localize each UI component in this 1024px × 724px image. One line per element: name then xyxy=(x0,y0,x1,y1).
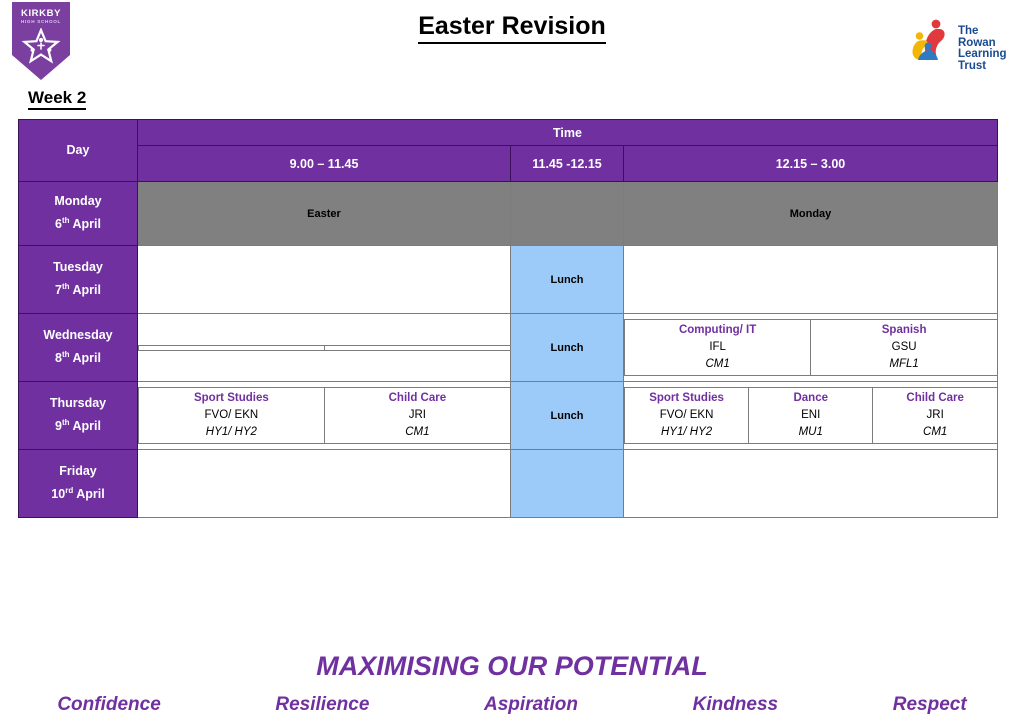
split-session-table: Computing/ ITIFLCM1SpanishGSUMFL1 xyxy=(624,319,997,375)
session-subject: Computing/ IT xyxy=(626,322,809,339)
table-row: Friday10rd April xyxy=(19,450,998,518)
date-ordinal: th xyxy=(62,350,70,359)
session-teacher: GSU xyxy=(812,339,996,356)
split-session-cell[interactable]: Child CareJRICM1 xyxy=(324,388,510,443)
table-row: Monday6th AprilEasterMonday xyxy=(19,182,998,246)
session-empty xyxy=(624,278,997,282)
session-subject: Sport Studies xyxy=(140,390,323,407)
split-session-table: Sport StudiesFVO/ EKNHY1/ HY2Child CareJ… xyxy=(138,387,510,443)
split-session-cell[interactable]: DanceENIMU1 xyxy=(749,388,873,443)
rowan-learning-trust-logo: The Rowan Learning Trust xyxy=(906,16,1018,68)
cell-morning-thursday[interactable]: Sport StudiesFVO/ EKNHY1/ HY2Child CareJ… xyxy=(138,382,511,450)
date-ordinal: rd xyxy=(65,486,73,495)
session: Sport StudiesFVO/ EKNHY1/ HY2 xyxy=(625,388,748,442)
session-empty xyxy=(138,278,510,282)
value-resilience: Resilience xyxy=(275,694,369,716)
school-motto: MAXIMISING OUR POTENTIAL xyxy=(0,651,1024,682)
table-row: Thursday9th AprilSport StudiesFVO/ EKNHY… xyxy=(19,382,998,450)
split-session-cell[interactable]: Sport StudiesFVO/ EKNHY1/ HY2 xyxy=(625,388,749,443)
cell-morning-friday[interactable] xyxy=(138,450,511,518)
session-teacher: IFL xyxy=(626,339,809,356)
day-cell-friday: Friday10rd April xyxy=(19,450,138,518)
day-date: 7th April xyxy=(19,279,137,303)
split-session-cell[interactable]: Sport StudiesFVO/ EKNHY1/ HY2 xyxy=(139,388,325,443)
session-subject: Dance xyxy=(750,390,871,407)
timetable-page: KIRKBY HIGH SCHOOL Easter Revision xyxy=(0,0,1024,724)
split-session-cell[interactable]: Computing/ ITIFLCM1 xyxy=(625,320,811,375)
trust-name: The Rowan Learning Trust xyxy=(958,26,1018,73)
cell-lunch-thursday[interactable]: Lunch xyxy=(511,382,624,450)
table-row: Tuesday7th AprilLunch xyxy=(19,246,998,314)
split-session-table: Sport StudiesFVO/ EKNHY1/ HY2DanceENIMU1… xyxy=(624,387,997,443)
session-empty xyxy=(139,346,324,350)
session-empty xyxy=(325,346,510,350)
cell-afternoon-tuesday[interactable] xyxy=(624,246,998,314)
cell-lunch-wednesday[interactable]: Lunch xyxy=(511,314,624,382)
session: Computing/ ITIFLCM1 xyxy=(625,320,810,374)
time-slot-lunch: 11.45 -12.15 xyxy=(511,146,624,182)
timetable-grid: Day Time 9.00 – 11.45 11.45 -12.15 12.15… xyxy=(18,119,998,518)
day-cell-monday: Monday6th April xyxy=(19,182,138,246)
split-session-cell[interactable]: SpanishGSUMFL1 xyxy=(811,320,997,375)
timetable-container: Day Time 9.00 – 11.45 11.45 -12.15 12.15… xyxy=(18,119,997,518)
table-header-row-2: 9.00 – 11.45 11.45 -12.15 12.15 – 3.00 xyxy=(19,146,998,182)
session-teacher: ENI xyxy=(750,407,871,424)
session-teacher: FVO/ EKN xyxy=(626,407,747,424)
session-room: MFL1 xyxy=(812,356,996,373)
session: SpanishGSUMFL1 xyxy=(811,320,997,374)
day-name: Thursday xyxy=(19,392,137,416)
split-session-cell[interactable] xyxy=(324,345,510,350)
session-room: CM1 xyxy=(326,424,509,441)
session-room: HY1/ HY2 xyxy=(140,424,323,441)
session-subject: Spanish xyxy=(812,322,996,339)
day-name: Friday xyxy=(19,460,137,484)
day-date: 9th April xyxy=(19,415,137,439)
cell-lunch-friday[interactable] xyxy=(511,450,624,518)
value-respect: Respect xyxy=(893,694,967,716)
day-cell-wednesday: Wednesday8th April xyxy=(19,314,138,382)
session-teacher: FVO/ EKN xyxy=(140,407,323,424)
day-date: 10rd April xyxy=(19,483,137,507)
trust-name-line1: The Rowan xyxy=(958,26,1018,49)
date-ordinal: th xyxy=(62,282,70,291)
day-cell-thursday: Thursday9th April xyxy=(19,382,138,450)
date-ordinal: th xyxy=(62,418,70,427)
session: DanceENIMU1 xyxy=(749,388,872,442)
cell-afternoon-wednesday[interactable]: Computing/ ITIFLCM1SpanishGSUMFL1 xyxy=(624,314,998,382)
day-cell-tuesday: Tuesday7th April xyxy=(19,246,138,314)
day-name: Wednesday xyxy=(19,324,137,348)
page-title: Easter Revision xyxy=(418,12,606,44)
value-confidence: Confidence xyxy=(57,694,160,716)
cell-morning-tuesday[interactable] xyxy=(138,246,511,314)
value-aspiration: Aspiration xyxy=(484,694,578,716)
value-kindness: Kindness xyxy=(693,694,779,716)
school-values: ConfidenceResilienceAspirationKindnessRe… xyxy=(0,694,1024,716)
session-room: CM1 xyxy=(874,424,996,441)
timetable-body: Monday6th AprilEasterMondayTuesday7th Ap… xyxy=(19,182,998,518)
table-header-row-1: Day Time xyxy=(19,120,998,146)
trust-name-line2: Learning Trust xyxy=(958,49,1018,72)
session-room: CM1 xyxy=(626,356,809,373)
cell-lunch-tuesday[interactable]: Lunch xyxy=(511,246,624,314)
cell-lunch-monday[interactable] xyxy=(511,182,624,246)
session-subject: Child Care xyxy=(874,390,996,407)
session-empty xyxy=(138,482,510,486)
day-name: Tuesday xyxy=(19,256,137,280)
session-subject: Child Care xyxy=(326,390,509,407)
session-room: HY1/ HY2 xyxy=(626,424,747,441)
day-name: Monday xyxy=(19,190,137,214)
split-session-cell[interactable] xyxy=(139,345,325,350)
date-ordinal: th xyxy=(62,216,70,225)
session-empty xyxy=(624,482,997,486)
table-row: Wednesday8th AprilLunchComputing/ ITIFLC… xyxy=(19,314,998,382)
cell-morning-monday[interactable]: Easter xyxy=(138,182,511,246)
day-column-header: Day xyxy=(19,120,138,182)
cell-afternoon-monday[interactable]: Monday xyxy=(624,182,998,246)
split-session-cell[interactable]: Child CareJRICM1 xyxy=(873,388,997,443)
day-date: 6th April xyxy=(19,213,137,237)
trust-figures-icon xyxy=(906,16,956,66)
session-subject: Sport Studies xyxy=(626,390,747,407)
cell-afternoon-thursday[interactable]: Sport StudiesFVO/ EKNHY1/ HY2DanceENIMU1… xyxy=(624,382,998,450)
session-teacher: JRI xyxy=(874,407,996,424)
cell-afternoon-friday[interactable] xyxy=(624,450,998,518)
page-title-wrap: Easter Revision xyxy=(0,12,1024,44)
time-slot-afternoon: 12.15 – 3.00 xyxy=(624,146,998,182)
week-label: Week 2 xyxy=(28,88,86,110)
day-date: 8th April xyxy=(19,347,137,371)
cell-morning-wednesday[interactable] xyxy=(138,314,511,382)
session-room: MU1 xyxy=(750,424,871,441)
session: Child CareJRICM1 xyxy=(325,388,510,442)
session: Sport StudiesFVO/ EKNHY1/ HY2 xyxy=(139,388,324,442)
time-slot-morning: 9.00 – 11.45 xyxy=(138,146,511,182)
split-session-table xyxy=(138,345,510,351)
session: Child CareJRICM1 xyxy=(873,388,997,442)
session-teacher: JRI xyxy=(326,407,509,424)
time-column-header: Time xyxy=(138,120,998,146)
